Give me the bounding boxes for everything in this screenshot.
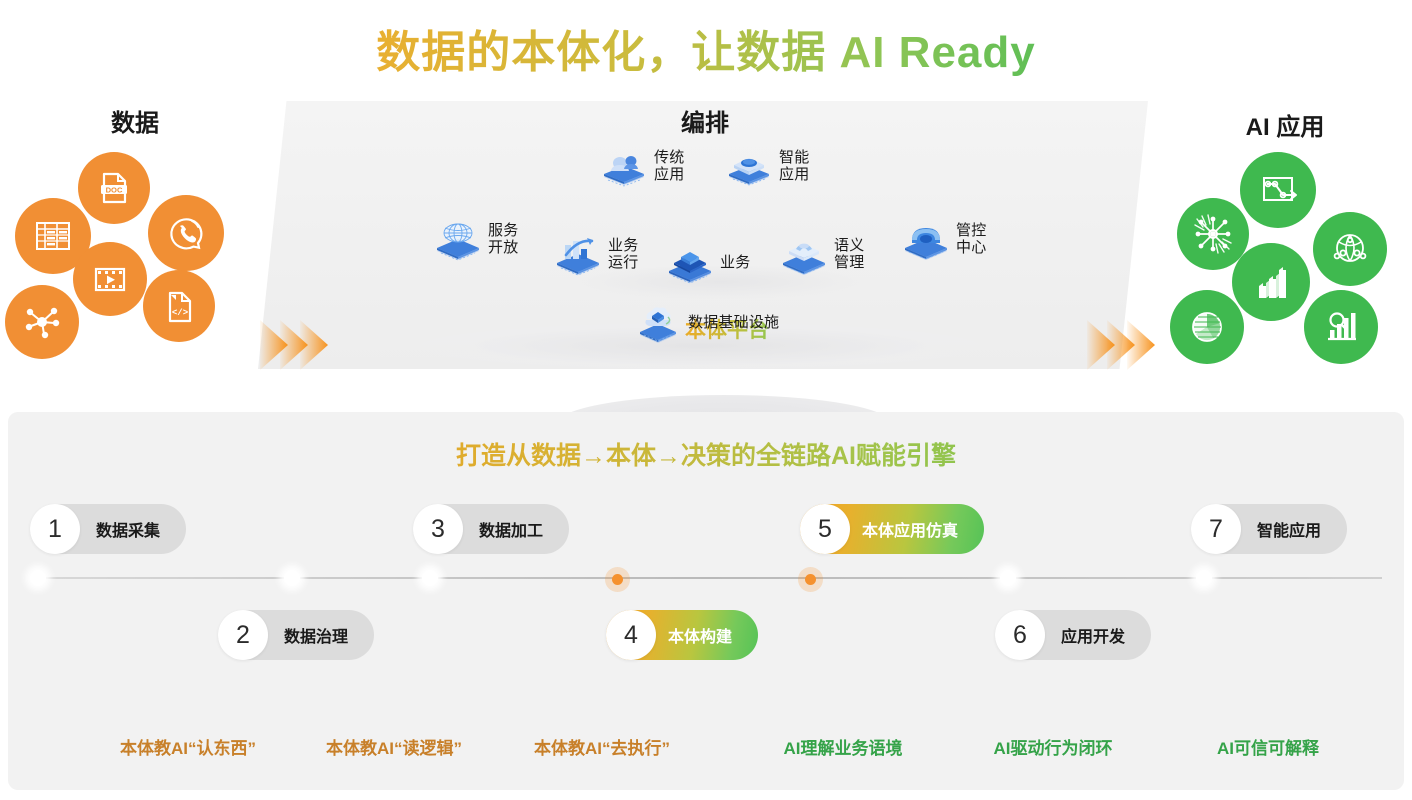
- step-label: 数据采集: [96, 517, 160, 541]
- top-diagram: 数据 编排 AI 应用: [0, 95, 1412, 385]
- node-control-center: 管控 中心: [900, 220, 986, 260]
- timeline-dot-1: [30, 570, 46, 586]
- analytics-icon: [1304, 290, 1378, 364]
- svg-text:</>: </>: [172, 308, 188, 318]
- node-data-infrastructure: 数据基础设施: [632, 303, 779, 343]
- pie-chart-icon: [1170, 290, 1244, 364]
- step-number: 2: [218, 610, 268, 660]
- slide-canvas: 数据的本体化，让数据 AI Ready 数据 编排 AI 应用: [0, 0, 1412, 800]
- node-smart-app: 智能 应用: [723, 147, 809, 187]
- node-label: 管控 中心: [956, 223, 986, 257]
- caption-1: 本体教AI“认东西”: [88, 734, 288, 759]
- node-label: 语义 管理: [834, 238, 864, 272]
- step-4[interactable]: 4 本体构建: [606, 610, 758, 660]
- step-label: 数据治理: [284, 623, 348, 647]
- node-label: 业务 运行: [608, 238, 638, 272]
- caption-6: AI可信可解释: [1173, 734, 1363, 759]
- node-business-run: 业务 运行: [552, 235, 638, 275]
- service-open-icon: [432, 220, 484, 260]
- node-traditional-app: 传统 应用: [598, 147, 684, 187]
- step-label: 智能应用: [1257, 517, 1321, 541]
- step-2[interactable]: 2 数据治理: [218, 610, 374, 660]
- caption-5: AI驱动行为闭环: [958, 734, 1148, 759]
- business-icon: [664, 243, 716, 283]
- line-chart-icon: [1240, 152, 1316, 228]
- triple-chevron-right-icon: [258, 310, 348, 380]
- bar-chart-icon: [1232, 243, 1310, 321]
- code-file-icon: </>: [143, 270, 215, 342]
- globe-network-icon: [1313, 212, 1387, 286]
- node-semantic-mgmt: 语义 管理: [778, 235, 864, 275]
- step-label: 本体应用仿真: [862, 517, 958, 541]
- node-label: 业务: [720, 255, 750, 272]
- timeline-dot-6: [1000, 570, 1016, 586]
- timeline-dot-2: [284, 570, 300, 586]
- step-7[interactable]: 7 智能应用: [1191, 504, 1347, 554]
- roadmap-panel: 打造从数据→本体→决策的全链路AI赋能引擎 1 数据采集 2 数据治理 3 数据…: [8, 412, 1404, 790]
- network-nodes-icon: [5, 285, 79, 359]
- semantic-mgmt-icon: [778, 235, 830, 275]
- triple-chevron-right-icon: [1085, 310, 1175, 380]
- node-label: 智能 应用: [779, 150, 809, 184]
- step-number: 3: [413, 504, 463, 554]
- page-title: 数据的本体化，让数据 AI Ready: [0, 16, 1412, 80]
- timeline-dot-3: [422, 570, 438, 586]
- timeline-dot-4: [612, 574, 623, 585]
- step-number: 1: [30, 504, 80, 554]
- step-6[interactable]: 6 应用开发: [995, 610, 1151, 660]
- step-3[interactable]: 3 数据加工: [413, 504, 569, 554]
- node-label: 传统 应用: [654, 150, 684, 184]
- data-icon-cluster: DOC: [5, 150, 230, 380]
- traditional-app-icon: [598, 147, 650, 187]
- timeline-dot-7: [1196, 570, 1212, 586]
- step-5[interactable]: 5 本体应用仿真: [800, 504, 984, 554]
- ai-icon-cluster: [1165, 150, 1390, 380]
- doc-file-icon: DOC: [78, 152, 150, 224]
- phone-call-icon: [148, 195, 224, 271]
- control-center-icon: [900, 220, 952, 260]
- data-infrastructure-icon: [632, 303, 684, 343]
- step-number: 4: [606, 610, 656, 660]
- node-service-open: 服务 开放: [432, 220, 518, 260]
- business-run-icon: [552, 235, 604, 275]
- node-label: 服务 开放: [488, 223, 518, 257]
- section-label-orchestration: 编排: [565, 103, 845, 138]
- node-label: 数据基础设施: [688, 315, 779, 332]
- video-film-icon: [73, 242, 147, 316]
- caption-2: 本体教AI“读逻辑”: [294, 734, 494, 759]
- smart-app-icon: [723, 147, 775, 187]
- section-label-ai-apps: AI 应用: [1195, 107, 1375, 142]
- step-label: 本体构建: [668, 623, 732, 647]
- step-number: 7: [1191, 504, 1241, 554]
- step-number: 6: [995, 610, 1045, 660]
- step-1[interactable]: 1 数据采集: [30, 504, 186, 554]
- step-label: 应用开发: [1061, 623, 1125, 647]
- caption-3: 本体教AI“去执行”: [502, 734, 702, 759]
- timeline-track: [34, 577, 1382, 579]
- node-business: 业务: [664, 243, 750, 283]
- roadmap-title: 打造从数据→本体→决策的全链路AI赋能引擎: [8, 436, 1404, 472]
- step-number: 5: [800, 504, 850, 554]
- section-label-data: 数据: [55, 103, 215, 138]
- timeline-dot-5: [805, 574, 816, 585]
- svg-text:DOC: DOC: [106, 185, 123, 194]
- caption-4: AI理解业务语境: [748, 734, 938, 759]
- step-label: 数据加工: [479, 517, 543, 541]
